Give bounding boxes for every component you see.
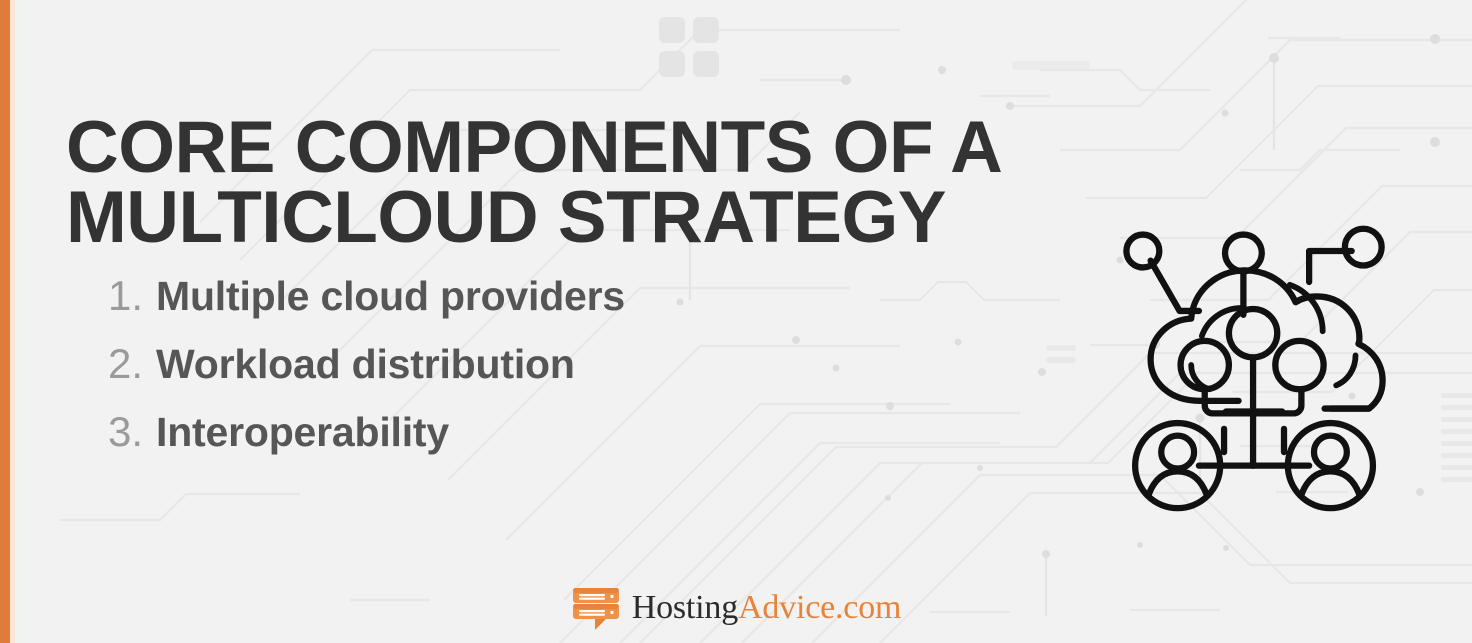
grid-square-2: [693, 17, 719, 43]
hostingadvice-server-bubble-icon: [571, 585, 623, 630]
components-list: 1. Multiple cloud providers 2. Workload …: [108, 272, 625, 476]
grid-square-3: [659, 51, 685, 77]
list-item-number: 3.: [108, 408, 156, 456]
list-item-number: 1.: [108, 272, 156, 320]
page-title-line-2: MULTICLOUD STRATEGY: [66, 183, 1002, 253]
multicloud-network-icon: [1110, 222, 1400, 512]
page-title-line-1: CORE COMPONENTS OF A: [66, 113, 1002, 183]
logo-wordmark-primary: Hosting: [632, 589, 738, 626]
logo-wordmark: HostingAdvice.com: [632, 591, 902, 625]
logo-wordmark-accent: Advice.com: [738, 589, 901, 626]
hostingadvice-logo[interactable]: HostingAdvice.com: [0, 585, 1472, 630]
grid-square-4: [693, 51, 719, 77]
list-item: 1. Multiple cloud providers: [108, 272, 625, 340]
list-item-label: Interoperability: [156, 409, 449, 456]
page-title: CORE COMPONENTS OF A MULTICLOUD STRATEGY: [66, 113, 1002, 253]
poster-canvas: CORE COMPONENTS OF A MULTICLOUD STRATEGY…: [0, 0, 1472, 643]
grid-squares-decoration: [659, 17, 719, 77]
list-item: 3. Interoperability: [108, 408, 625, 476]
left-accent-bar-pale: [15, 0, 24, 643]
list-item-number: 2.: [108, 340, 156, 388]
left-accent-bar: [0, 0, 10, 643]
grid-square-1: [659, 17, 685, 43]
list-item: 2. Workload distribution: [108, 340, 625, 408]
list-item-label: Workload distribution: [156, 341, 575, 388]
list-item-label: Multiple cloud providers: [156, 273, 625, 320]
